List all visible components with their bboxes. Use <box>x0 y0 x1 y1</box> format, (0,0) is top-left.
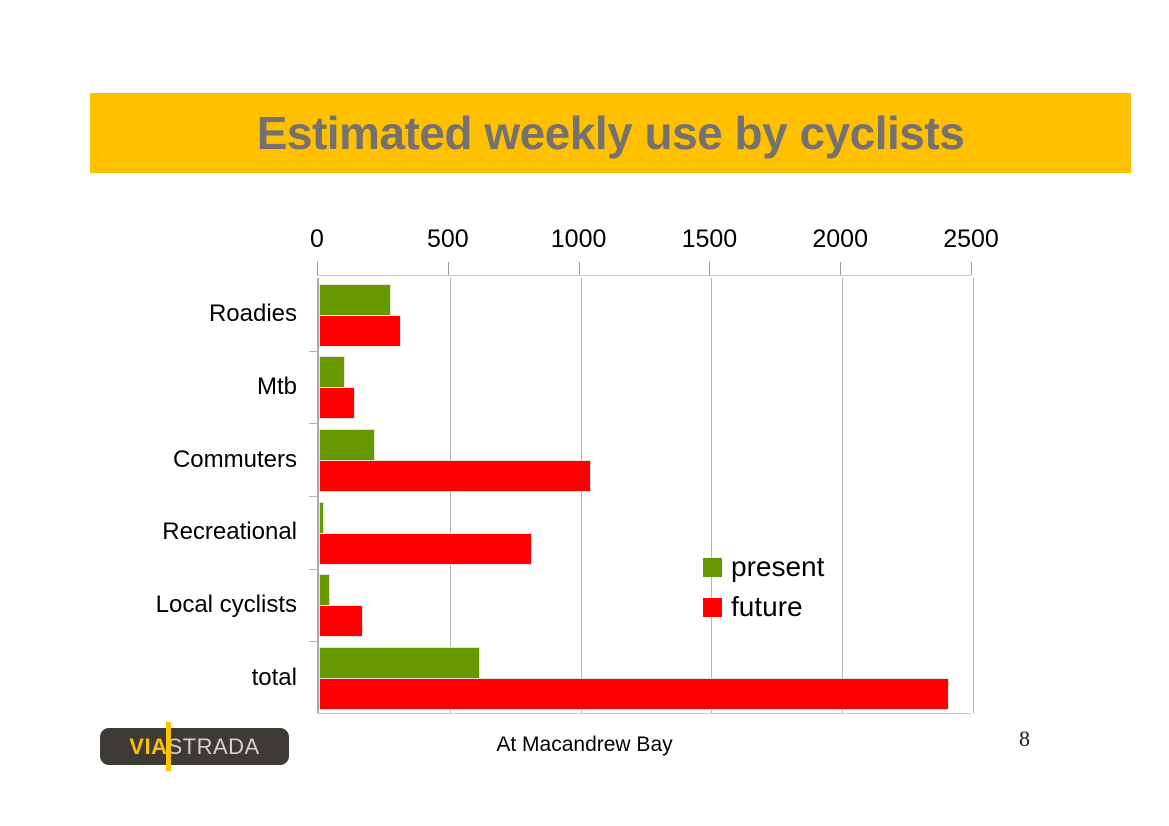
y-axis-category-label: Mtb <box>257 373 297 401</box>
slide-title-banner: Estimated weekly use by cyclists <box>90 93 1131 173</box>
y-axis-category-label: Recreational <box>162 518 297 546</box>
y-axis-tick <box>309 569 319 570</box>
bar-present <box>319 647 480 679</box>
bar-future <box>319 605 363 637</box>
x-axis-line <box>317 275 971 276</box>
x-axis-tick-labels: 05001000150020002500 <box>317 225 971 259</box>
bar-present <box>319 429 375 461</box>
x-axis-tick-label: 2500 <box>943 225 999 254</box>
bar-present <box>319 502 324 534</box>
logo-text-via: VIA <box>129 734 167 759</box>
chart-category-row: total <box>319 641 971 714</box>
x-axis-tick-label: 0 <box>310 225 324 254</box>
chart-category-row: Commuters <box>319 423 971 496</box>
page-title: Estimated weekly use by cyclists <box>257 110 965 156</box>
y-axis-category-label: Roadies <box>209 300 297 328</box>
bar-present <box>319 356 345 388</box>
gridline <box>973 278 974 713</box>
bar-chart: 05001000150020002500 RoadiesMtbCommuters… <box>0 225 1169 725</box>
x-axis-tick <box>709 262 710 275</box>
bar-future <box>319 533 532 565</box>
bar-future <box>319 387 355 419</box>
bar-future <box>319 460 591 492</box>
y-axis-category-label: Commuters <box>173 446 297 474</box>
legend-swatch-present <box>703 558 722 577</box>
x-axis-tick <box>971 262 972 275</box>
legend-label-present: present <box>731 551 824 583</box>
page-number: 8 <box>1019 726 1030 752</box>
chart-category-row: Mtb <box>319 351 971 424</box>
x-axis-tick <box>840 262 841 275</box>
x-axis-tick-label: 1500 <box>682 225 738 254</box>
y-axis-tick <box>309 423 319 424</box>
y-axis-tick <box>309 351 319 352</box>
x-axis-tick <box>317 262 318 275</box>
viastrada-logo: VIASTRADA <box>100 728 289 765</box>
chart-category-row: Roadies <box>319 278 971 351</box>
legend-item-future: future <box>703 587 903 627</box>
y-axis-tick <box>309 641 319 642</box>
legend-item-present: present <box>703 547 903 587</box>
x-axis-tick-label: 2000 <box>812 225 868 254</box>
y-axis-category-label: Local cyclists <box>156 591 297 619</box>
logo-text: VIASTRADA <box>129 734 259 760</box>
bar-present <box>319 284 391 316</box>
chart-legend: present future <box>703 547 903 627</box>
logo-text-strada: STRADA <box>167 734 259 759</box>
legend-swatch-future <box>703 598 722 617</box>
x-axis-tick <box>448 262 449 275</box>
x-axis-tick-label: 500 <box>427 225 469 254</box>
bar-future <box>319 315 401 347</box>
x-axis-tick-label: 1000 <box>551 225 607 254</box>
legend-label-future: future <box>731 591 803 623</box>
bar-present <box>319 574 330 606</box>
y-axis-tick <box>309 496 319 497</box>
bar-future <box>319 678 949 710</box>
x-axis-tick <box>579 262 580 275</box>
logo-accent-bar <box>166 722 171 771</box>
y-axis-category-label: total <box>252 664 297 692</box>
plot-area: RoadiesMtbCommutersRecreationalLocal cyc… <box>317 278 971 714</box>
